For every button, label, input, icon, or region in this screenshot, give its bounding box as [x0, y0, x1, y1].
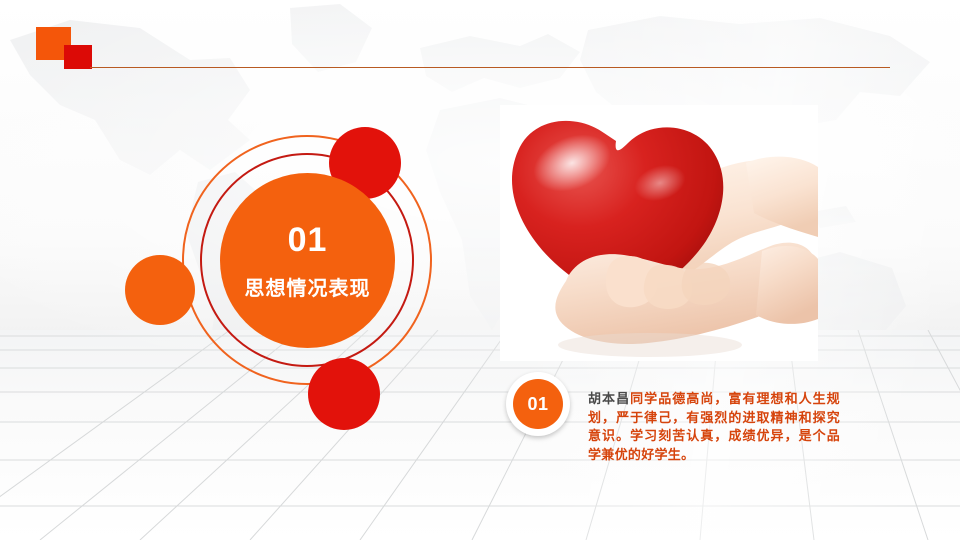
slide-canvas: 01 思想情况表现 [0, 0, 960, 540]
student-name: 胡本昌 [588, 391, 630, 406]
section-number: 01 [288, 223, 328, 257]
decor-dot-red-bottom [308, 358, 380, 430]
header-divider [90, 67, 890, 68]
decor-dot-orange-left [125, 255, 195, 325]
caption-badge-number: 01 [513, 379, 563, 429]
section-title: 思想情况表现 [245, 279, 371, 299]
caption-text: 胡本昌同学品德高尚，富有理想和人生规划，严于律己，有强烈的进取精神和探究意识。学… [588, 390, 840, 464]
section-circle-graphic: 01 思想情况表现 [110, 115, 430, 435]
caption-badge: 01 [506, 372, 570, 436]
section-core-circle: 01 思想情况表现 [220, 173, 395, 348]
decor-square-red [64, 45, 92, 69]
heart-in-hands-photo [500, 105, 818, 361]
